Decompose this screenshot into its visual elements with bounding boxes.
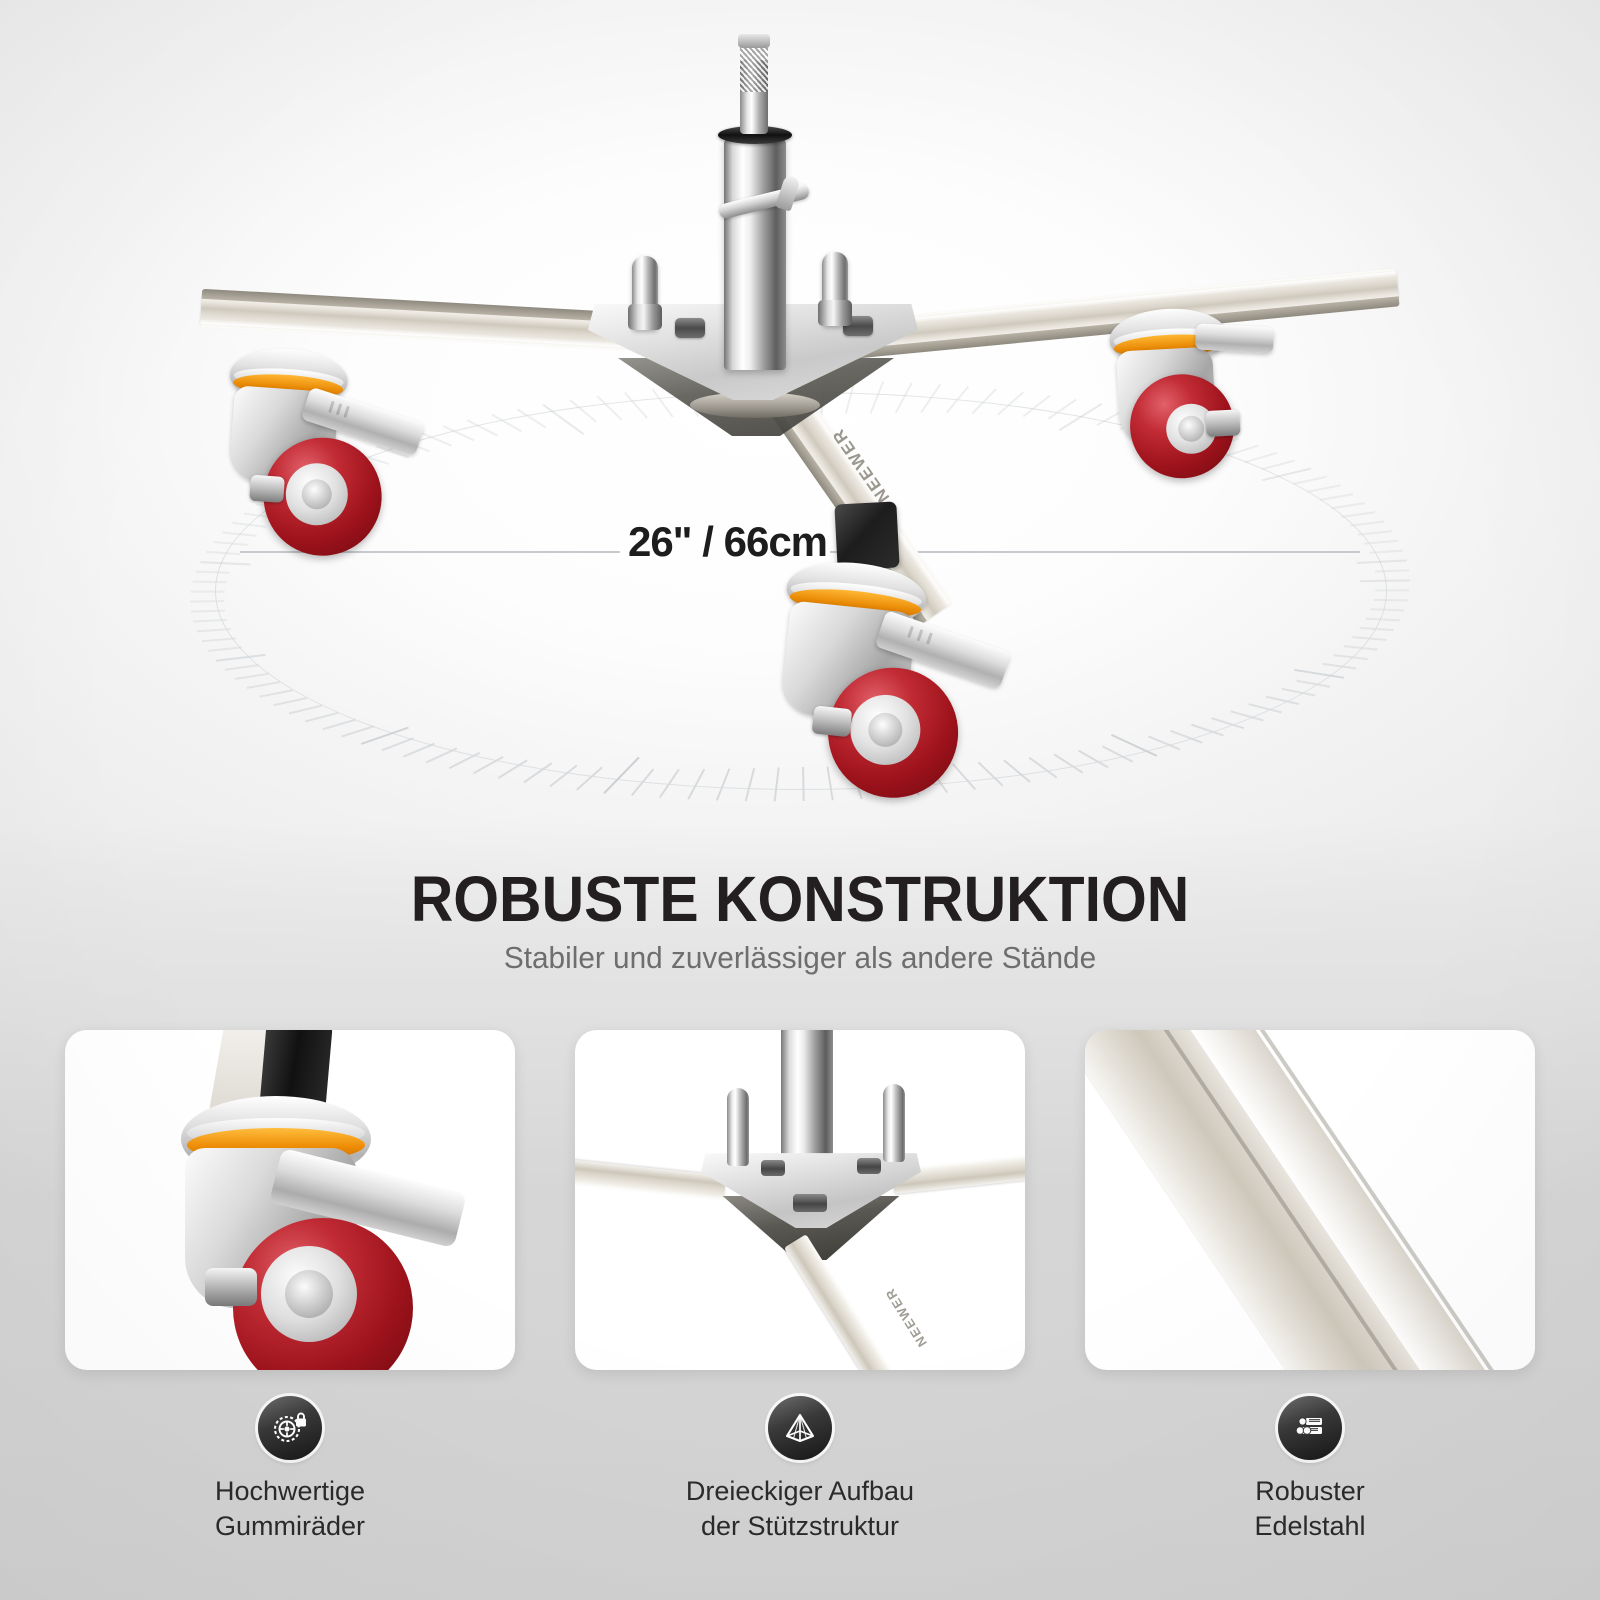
dimension-line-left <box>240 551 620 553</box>
dial-tick <box>576 767 603 791</box>
dial-tick <box>403 743 435 758</box>
dial-tick <box>978 762 1004 787</box>
page-subtitle: Stabiler und zuverlässiger als andere St… <box>32 940 1568 976</box>
swivel-lock-lever <box>718 180 820 226</box>
dial-tick <box>952 763 976 790</box>
dial-tick <box>1364 540 1398 545</box>
mounting-pin-right <box>822 252 848 326</box>
dial-tick <box>341 725 374 737</box>
feature-card-triangular-structure: NEEWER Dreieckiger Aufbau der Stützstruk… <box>575 1030 1025 1590</box>
dial-tick <box>1370 608 1404 611</box>
dial-tick <box>1170 730 1203 744</box>
dial-tick <box>1054 754 1084 774</box>
dial-tick <box>222 531 256 536</box>
dial-tick <box>1375 569 1409 572</box>
dial-tick <box>232 522 266 528</box>
feature-caption-wheels: Hochwertige Gummiräder <box>65 1474 515 1543</box>
dial-tick <box>1226 445 1259 457</box>
dial-tick <box>1262 460 1295 471</box>
dial-tick <box>381 737 413 751</box>
dial-tick <box>517 408 547 428</box>
feature-card-steel: Robuster Edelstahl <box>1085 1030 1535 1590</box>
dial-tick <box>193 581 227 584</box>
thumbnail-triangular-hub: NEEWER <box>575 1030 1025 1370</box>
dial-tick <box>289 705 323 715</box>
dial-tick <box>498 759 528 779</box>
dial-tick <box>323 719 356 730</box>
dial-tick <box>190 600 224 603</box>
dial-tick <box>425 748 457 764</box>
dial-tick <box>1320 493 1354 501</box>
dial-tick <box>1334 654 1368 660</box>
dial-tick <box>1191 724 1224 737</box>
dial-tick <box>1360 579 1410 582</box>
dial-tick <box>1352 636 1386 641</box>
caption-line-2: der Stützstruktur <box>575 1509 1025 1544</box>
dial-tick <box>420 432 452 447</box>
dial-tick <box>206 551 240 555</box>
dial-tick <box>1211 717 1244 729</box>
dial-tick <box>1341 511 1375 518</box>
dial-tick <box>197 628 231 632</box>
center-column-icon <box>724 138 786 370</box>
dial-tick <box>1029 757 1058 779</box>
steel-tubes-icon <box>1278 1396 1342 1460</box>
caption-line-2: Edelstahl <box>1085 1509 1535 1544</box>
dial-tick <box>549 765 577 788</box>
dial-tick <box>247 681 281 689</box>
dial-tick <box>946 386 969 414</box>
rod-tip <box>738 34 770 48</box>
product-feature-page: 26" / 66cm NEEWER <box>0 0 1600 1600</box>
dial-tick <box>997 391 1024 415</box>
dial-tick <box>1375 589 1409 591</box>
dial-tick <box>1294 669 1344 679</box>
feature-card-list: Hochwertige Gummiräder NEEWER <box>0 1030 1600 1590</box>
dial-tick <box>1102 745 1133 762</box>
caption-line-1: Dreieckiger Aufbau <box>575 1474 1025 1509</box>
dial-tick <box>802 767 805 801</box>
dial-tick <box>1078 750 1108 769</box>
dial-tick <box>603 756 640 794</box>
dial-tick <box>1248 703 1281 713</box>
dial-tick <box>659 769 680 798</box>
dial-tick <box>1357 559 1407 564</box>
dial-tick <box>1266 696 1300 705</box>
dial-tick <box>523 762 552 783</box>
dial-tick <box>208 646 242 651</box>
page-title: ROBUSTE KONSTRUKTION <box>64 862 1536 936</box>
dial-tick <box>491 414 521 433</box>
dial-tick <box>687 769 705 800</box>
dial-tick <box>716 768 730 800</box>
thumbnail-steel-legs <box>1085 1030 1535 1370</box>
dial-tick <box>235 673 269 680</box>
dial-tick <box>1344 645 1378 650</box>
knurled-rod-grip <box>740 42 768 92</box>
brand-mark-thumb: NEEWER <box>876 1273 941 1360</box>
dial-tick <box>1307 484 1341 492</box>
dial-tick <box>467 419 498 436</box>
dial-tick <box>1023 395 1051 418</box>
dial-tick <box>1244 452 1277 463</box>
dial-tick <box>193 619 227 623</box>
caption-line-1: Robuster <box>1085 1474 1535 1509</box>
dial-tick <box>624 392 648 419</box>
mounting-pin-left <box>632 256 658 330</box>
dial-tick <box>273 697 307 706</box>
dial-tick <box>1360 627 1394 631</box>
dial-tick <box>920 384 941 413</box>
dial-tick <box>1323 663 1357 670</box>
thumbnail-caster-wheel <box>65 1030 515 1370</box>
dial-tick <box>196 571 230 574</box>
dial-tick <box>1230 710 1263 721</box>
caption-line-1: Hochwertige <box>65 1474 515 1509</box>
dial-tick <box>305 712 338 723</box>
dial-tick <box>596 395 622 420</box>
feature-card-wheels: Hochwertige Gummiräder <box>65 1030 515 1590</box>
dial-tick <box>826 766 833 800</box>
dial-tick <box>631 769 654 797</box>
dial-tick <box>1293 476 1327 485</box>
dial-tick <box>473 756 504 774</box>
dial-tick <box>1148 735 1180 750</box>
feature-caption-structure: Dreieckiger Aufbau der Stützstruktur <box>575 1474 1025 1543</box>
dial-tick <box>225 664 259 671</box>
leg-end-cap <box>834 501 899 570</box>
dial-tick <box>443 425 475 441</box>
dial-tick <box>1003 759 1030 782</box>
dial-tick <box>1373 599 1407 602</box>
brake-lever-right <box>1195 323 1274 353</box>
dial-tick <box>191 609 225 612</box>
dimension-label: 26" / 66cm <box>620 518 835 566</box>
dial-tick <box>1331 502 1365 509</box>
dial-tick <box>191 591 225 593</box>
dial-tick <box>972 388 997 414</box>
dial-tick <box>214 541 248 546</box>
dial-tick <box>1296 680 1330 688</box>
dial-tick <box>870 381 884 413</box>
dial-tick <box>895 382 913 413</box>
hub-bolt <box>675 318 705 338</box>
dial-tick <box>259 689 293 697</box>
wheel-lock-icon <box>258 1396 322 1460</box>
dial-tick <box>202 637 236 642</box>
dial-tick <box>1358 530 1392 535</box>
dial-tick <box>774 767 780 801</box>
dial-tick <box>1350 521 1384 527</box>
dial-tick <box>569 399 596 422</box>
dial-tick <box>1048 399 1077 420</box>
hero-product-image: 26" / 66cm NEEWER <box>0 0 1600 860</box>
dial-tick <box>200 561 250 566</box>
dial-tick <box>1282 688 1316 697</box>
pyramid-tripod-icon <box>768 1396 832 1460</box>
dial-tick <box>1366 618 1400 622</box>
dial-tick <box>216 653 266 661</box>
dial-tick <box>1369 550 1403 554</box>
dial-tick <box>449 752 480 769</box>
dial-tick <box>745 768 755 801</box>
caption-line-2: Gummiräder <box>65 1509 515 1544</box>
feature-caption-steel: Robuster Edelstahl <box>1085 1474 1535 1543</box>
